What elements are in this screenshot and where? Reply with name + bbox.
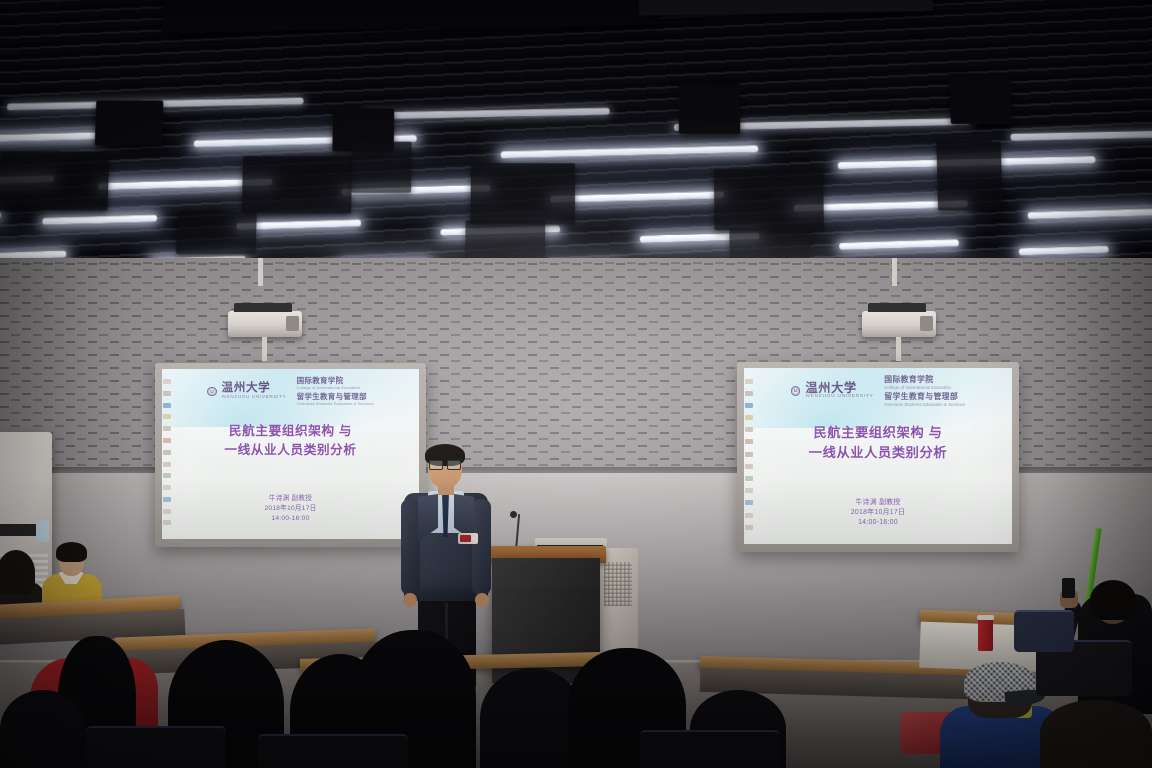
- whiteboard-button[interactable]: [745, 391, 753, 396]
- whiteboard-button[interactable]: [745, 403, 753, 408]
- audience-silhouette: [0, 690, 86, 768]
- ceiling-duct: [176, 212, 257, 254]
- projected-slide-right: U 温州大学 WENZHOU UNIVERSITY 国际教育学院 College…: [744, 368, 1012, 544]
- whiteboard-button[interactable]: [163, 462, 171, 467]
- whiteboard-button[interactable]: [163, 473, 171, 478]
- whiteboard-button[interactable]: [745, 439, 753, 444]
- chair-back: [86, 726, 226, 768]
- ceiling: [0, 0, 1152, 290]
- university-name-block: 温州大学 WENZHOU UNIVERSITY: [805, 382, 873, 400]
- whiteboard-button[interactable]: [163, 509, 171, 514]
- department-name-en: Overseas Students Education & Services: [297, 401, 374, 406]
- ceiling-duct: [679, 83, 741, 134]
- whiteboard-button[interactable]: [163, 403, 171, 408]
- chair-back: [1014, 610, 1074, 652]
- university-name-zh: 温州大学: [805, 382, 873, 394]
- whiteboard-button[interactable]: [745, 427, 753, 432]
- whiteboard-button[interactable]: [745, 476, 753, 481]
- whiteboard-button[interactable]: [163, 426, 171, 431]
- slide-time: 14:00-16:00: [162, 514, 419, 524]
- whiteboard-button-strip-right[interactable]: [745, 379, 753, 530]
- podium-speaker-grille: [604, 562, 632, 606]
- presenter-arm-right: [472, 499, 491, 595]
- university-name-en: WENZHOU UNIVERSITY: [805, 394, 873, 400]
- whiteboard-surface-right: U 温州大学 WENZHOU UNIVERSITY 国际教育学院 College…: [744, 368, 1012, 544]
- ceiling-projector-right: [862, 311, 936, 337]
- ceiling-duct: [714, 169, 824, 230]
- whiteboard-button[interactable]: [745, 488, 753, 493]
- college-name-zh: 国际教育学院: [297, 376, 374, 386]
- slide-header-right: U 温州大学 WENZHOU UNIVERSITY 国际教育学院 College…: [744, 375, 1012, 407]
- ceiling-duct: [352, 142, 412, 193]
- whiteboard-button[interactable]: [163, 391, 171, 396]
- slide-title-right: 民航主要组织架构 与 一线从业人员类别分析: [744, 423, 1012, 464]
- slide-speaker: 牛诗渊 副教授: [162, 494, 419, 504]
- presenter-hand-right: [475, 593, 489, 607]
- audience-woman-yellow-hair: [56, 542, 87, 562]
- ceiling-duct: [936, 142, 1002, 211]
- whiteboard-button[interactable]: [163, 379, 171, 384]
- audience-woman-taking-photo-hair: [1090, 580, 1136, 620]
- ceiling-duct: [465, 220, 545, 262]
- slide-header-left: U 温州大学 WENZHOU UNIVERSITY 国际教育学院 College…: [162, 376, 419, 407]
- university-name-block: 温州大学 WENZHOU UNIVERSITY: [222, 382, 287, 399]
- whiteboard-button[interactable]: [163, 450, 171, 455]
- whiteboard-button[interactable]: [745, 452, 753, 457]
- university-logo-right: U 温州大学 WENZHOU UNIVERSITY: [791, 382, 874, 400]
- thermos-cap: [977, 615, 994, 620]
- ceiling-projector-left: [228, 311, 302, 337]
- glasses-icon: [429, 460, 461, 468]
- department-name-zh: 留学生教育与管理部: [297, 392, 374, 402]
- college-name-en: College of International Education: [884, 385, 965, 390]
- smartphone-icon: [1062, 578, 1075, 598]
- slide-speaker: 牛诗渊 副教授: [744, 498, 1012, 508]
- slide-date: 2018年10月17日: [162, 504, 419, 514]
- slide-title-line2: 一线从业人员类别分析: [744, 443, 1012, 464]
- whiteboard-button[interactable]: [745, 464, 753, 469]
- presenter-name-badge: [458, 533, 478, 544]
- whiteboard-button[interactable]: [163, 414, 171, 419]
- interactive-whiteboard-left[interactable]: U 温州大学 WENZHOU UNIVERSITY 国际教育学院 College…: [155, 363, 426, 547]
- slide-subtitle-left: 牛诗渊 副教授 2018年10月17日 14:00-16:00: [162, 494, 419, 523]
- presenter-arm-left: [401, 499, 420, 595]
- whiteboard-button[interactable]: [745, 379, 753, 384]
- whiteboard-button[interactable]: [163, 497, 171, 502]
- projector-mount-arm-right: [892, 258, 897, 286]
- projector-mount-arm-left: [258, 258, 263, 286]
- slide-title-line1: 民航主要组织架构 与: [744, 423, 1012, 444]
- projector-cable-right: [896, 337, 901, 361]
- whiteboard-button[interactable]: [745, 525, 753, 530]
- ceiling-duct: [950, 73, 1013, 124]
- chair-back: [258, 734, 408, 768]
- ceiling-duct: [242, 156, 352, 213]
- projected-slide-left: U 温州大学 WENZHOU UNIVERSITY 国际教育学院 College…: [162, 369, 419, 539]
- interactive-whiteboard-right[interactable]: U 温州大学 WENZHOU UNIVERSITY 国际教育学院 College…: [737, 362, 1019, 552]
- whiteboard-surface-left: U 温州大学 WENZHOU UNIVERSITY 国际教育学院 College…: [162, 369, 419, 539]
- projector-cable-left: [262, 337, 267, 361]
- whiteboard-button[interactable]: [745, 513, 753, 518]
- slide-title-line1: 民航主要组织架构 与: [162, 422, 419, 442]
- red-thermos: [978, 618, 993, 651]
- whiteboard-button[interactable]: [163, 438, 171, 443]
- ceiling-duct: [470, 163, 575, 224]
- audience-silhouette: [1040, 700, 1152, 768]
- ceiling-duct: [95, 101, 164, 146]
- ceiling-duct: [0, 151, 109, 210]
- university-name-zh: 温州大学: [222, 382, 287, 394]
- university-logo-left: U 温州大学 WENZHOU UNIVERSITY: [207, 382, 286, 399]
- slide-subtitle-right: 牛诗渊 副教授 2018年10月17日 14:00-16:00: [744, 498, 1012, 529]
- department-name-en: Overseas Students Education & Services: [884, 402, 965, 407]
- ac-control-panel[interactable]: [36, 520, 49, 542]
- whiteboard-button[interactable]: [163, 520, 171, 525]
- microphone-head-icon: [510, 511, 517, 518]
- slide-title-left: 民航主要组织架构 与 一线从业人员类别分析: [162, 422, 419, 461]
- college-block-left: 国际教育学院 College of International Educatio…: [297, 376, 374, 407]
- slide-date: 2018年10月17日: [744, 508, 1012, 518]
- lecture-hall-photo: U 温州大学 WENZHOU UNIVERSITY 国际教育学院 College…: [0, 0, 1152, 768]
- whiteboard-button[interactable]: [745, 500, 753, 505]
- whiteboard-button-strip-left[interactable]: [163, 379, 171, 525]
- whiteboard-button[interactable]: [163, 485, 171, 490]
- slide-time: 14:00-16:00: [744, 518, 1012, 528]
- presenter-hand-left: [403, 593, 417, 607]
- department-name-zh: 留学生教育与管理部: [884, 392, 965, 402]
- college-name-en: College of International Education: [297, 385, 374, 390]
- university-name-en: WENZHOU UNIVERSITY: [222, 394, 287, 400]
- audience-woman-dark-top-hair: [0, 550, 35, 594]
- university-seal-icon: U: [207, 387, 216, 396]
- college-block-right: 国际教育学院 College of International Educatio…: [884, 375, 965, 407]
- whiteboard-button[interactable]: [745, 415, 753, 420]
- university-seal-icon: U: [791, 386, 801, 396]
- college-name-zh: 国际教育学院: [884, 375, 965, 385]
- chair-back: [640, 730, 780, 768]
- slide-title-line2: 一线从业人员类别分析: [162, 441, 419, 461]
